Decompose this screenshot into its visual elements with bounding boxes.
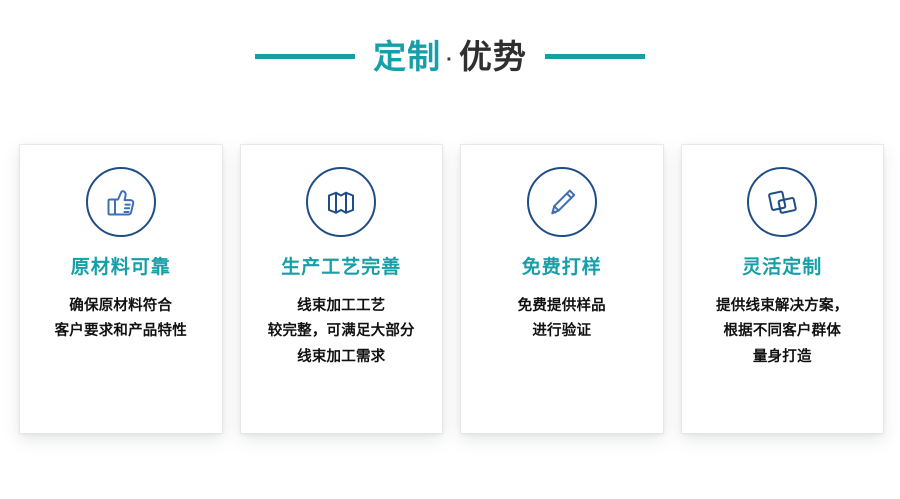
advantage-card[interactable]: 免费打样 免费提供样品 进行验证 xyxy=(461,145,663,433)
card-description: 确保原材料符合 客户要求和产品特性 xyxy=(26,294,216,345)
card-description-line: 线束加工工艺 xyxy=(246,294,436,319)
card-description-line: 确保原材料符合 xyxy=(26,294,216,319)
heading-title: 定制 · 优势 xyxy=(373,40,527,73)
advantage-card-list: 原材料可靠 确保原材料符合 客户要求和产品特性 生产工艺完善 线束加工工艺 较完… xyxy=(20,145,883,433)
card-description-line: 量身打造 xyxy=(687,345,877,370)
card-description: 线束加工工艺 较完整，可满足大部分 线束加工需求 xyxy=(246,294,436,370)
card-title: 灵活定制 xyxy=(742,257,822,280)
card-title: 免费打样 xyxy=(522,257,602,280)
folded-map-icon xyxy=(306,167,376,237)
card-description-line: 进行验证 xyxy=(467,319,657,344)
card-description: 提供线束解决方案， 根据不同客户群体 量身打造 xyxy=(687,294,877,370)
card-description-line: 较完整，可满足大部分 xyxy=(246,319,436,344)
card-description-line: 线束加工需求 xyxy=(246,345,436,370)
card-description-line: 提供线束解决方案， xyxy=(687,294,877,319)
advantage-card[interactable]: 灵活定制 提供线束解决方案， 根据不同客户群体 量身打造 xyxy=(682,145,884,433)
advantage-card[interactable]: 生产工艺完善 线束加工工艺 较完整，可满足大部分 线束加工需求 xyxy=(241,145,443,433)
card-title: 生产工艺完善 xyxy=(281,257,401,280)
heading-title-secondary: 优势 xyxy=(459,40,527,73)
heading-title-primary: 定制 xyxy=(373,40,441,73)
stacked-cards-icon xyxy=(747,167,817,237)
advantage-card[interactable]: 原材料可靠 确保原材料符合 客户要求和产品特性 xyxy=(20,145,222,433)
thumbs-up-icon xyxy=(86,167,156,237)
card-description-line: 客户要求和产品特性 xyxy=(26,319,216,344)
card-title: 原材料可靠 xyxy=(71,257,171,280)
pencil-icon xyxy=(527,167,597,237)
card-description: 免费提供样品 进行验证 xyxy=(467,294,657,345)
heading-rule-left xyxy=(255,54,355,59)
card-description-line: 根据不同客户群体 xyxy=(687,319,877,344)
heading-rule-right xyxy=(545,54,645,59)
card-description-line: 免费提供样品 xyxy=(467,294,657,319)
heading-title-separator: · xyxy=(441,50,459,70)
section-heading: 定制 · 优势 xyxy=(0,26,900,86)
